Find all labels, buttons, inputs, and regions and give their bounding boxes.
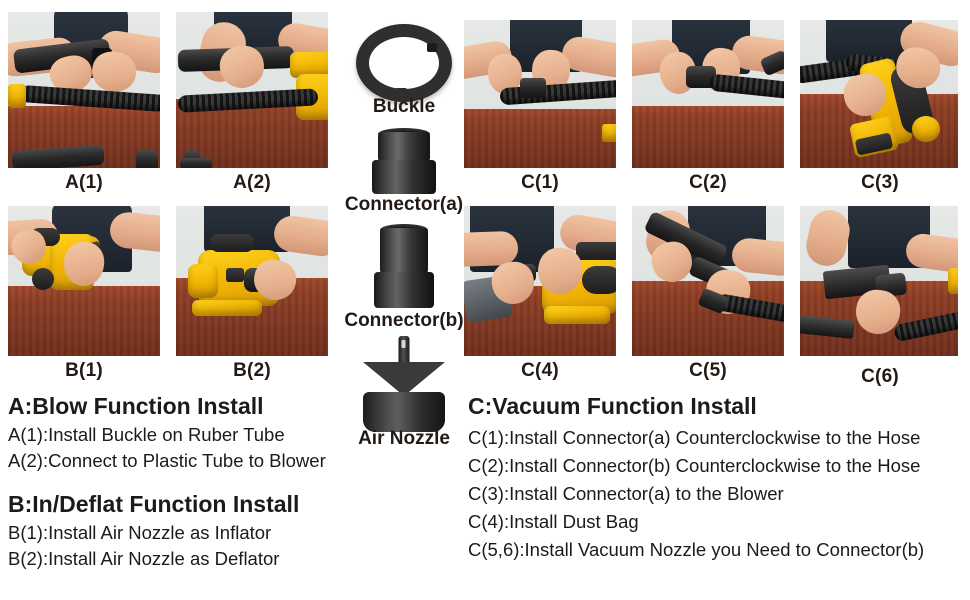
section-a-title: A:Blow Function Install bbox=[8, 393, 264, 420]
part-connector-b bbox=[356, 224, 452, 312]
section-b-title: B:In/Deflat Function Install bbox=[8, 491, 299, 518]
section-c-line-3: C(3):Install Connector(a) to the Blower bbox=[468, 483, 784, 505]
part-label-connector-b: Connector(b) bbox=[330, 310, 478, 332]
photo-b1 bbox=[8, 206, 160, 356]
photo-caption-a1: A(1) bbox=[32, 172, 136, 194]
buckle-icon bbox=[356, 24, 452, 102]
photo-c2 bbox=[632, 20, 784, 168]
part-label-buckle: Buckle bbox=[344, 96, 464, 118]
connector-b-lower-barrel bbox=[374, 272, 434, 308]
section-b-line-1: B(1):Install Air Nozzle as Inflator bbox=[8, 522, 271, 544]
photo-caption-c3: C(3) bbox=[830, 172, 930, 194]
photo-caption-b2: B(2) bbox=[200, 360, 304, 382]
photo-caption-c4: C(4) bbox=[490, 360, 590, 382]
photo-c1 bbox=[464, 20, 616, 168]
photo-c5 bbox=[632, 206, 784, 356]
section-b-line-2: B(2):Install Air Nozzle as Deflator bbox=[8, 548, 279, 570]
photo-c6 bbox=[800, 206, 958, 356]
section-c-line-5: C(5,6):Install Vacuum Nozzle you Need to… bbox=[468, 539, 924, 561]
photo-a1 bbox=[8, 12, 160, 168]
section-c-line-1: C(1):Install Connector(a) Counterclockwi… bbox=[468, 427, 920, 449]
photo-caption-c1: C(1) bbox=[490, 172, 590, 194]
section-a-line-1: A(1):Install Buckle on Ruber Tube bbox=[8, 424, 285, 446]
connector-a-lower-barrel bbox=[372, 160, 436, 194]
photo-caption-c6: C(6) bbox=[830, 366, 930, 388]
section-a-line-2: A(2):Connect to Plastic Tube to Blower bbox=[8, 450, 326, 472]
part-connector-a bbox=[356, 128, 452, 198]
photo-caption-c5: C(5) bbox=[658, 360, 758, 382]
photo-c4 bbox=[464, 206, 616, 356]
photo-caption-c2: C(2) bbox=[658, 172, 758, 194]
air-nozzle-cup bbox=[363, 392, 445, 432]
part-air-nozzle bbox=[356, 336, 452, 432]
section-c-line-2: C(2):Install Connector(b) Counterclockwi… bbox=[468, 455, 920, 477]
photo-b2 bbox=[176, 206, 328, 356]
photo-caption-b1: B(1) bbox=[32, 360, 136, 382]
photo-caption-a2: A(2) bbox=[200, 172, 304, 194]
photo-c3 bbox=[800, 20, 958, 168]
part-label-air-nozzle: Air Nozzle bbox=[340, 428, 468, 450]
part-label-connector-a: Connector(a) bbox=[330, 194, 478, 216]
connector-b-upper-barrel bbox=[380, 228, 428, 274]
section-c-line-4: C(4):Install Dust Bag bbox=[468, 511, 639, 533]
section-c-title: C:Vacuum Function Install bbox=[468, 393, 757, 420]
photo-a2 bbox=[176, 12, 328, 168]
connector-a-upper-barrel bbox=[378, 132, 430, 162]
air-nozzle-cone bbox=[363, 362, 445, 396]
